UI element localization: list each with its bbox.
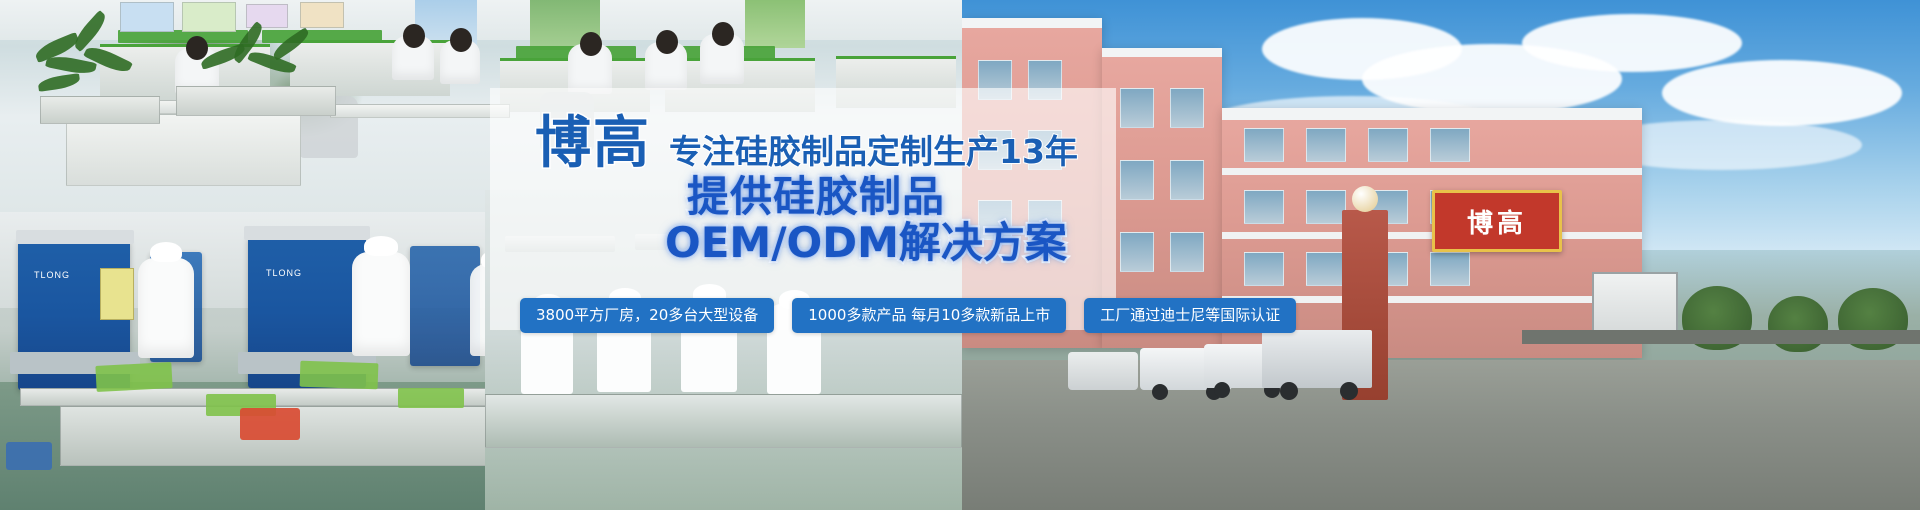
gate-lamp [1352,186,1378,212]
control-panel [100,268,134,320]
notice-board [1592,272,1678,336]
signboard-text: 博高 [1467,203,1527,240]
banner-content: 博高 专注硅胶制品定制生产13年 提供硅胶制品 OEM/ODM解决方案 3800… [490,88,1116,418]
brand-logo-text: 博高 [535,116,651,172]
promotional-banner: TLONG TLONG [0,0,1920,510]
factory-worker [138,258,194,358]
building-signboard: 博高 [1432,190,1562,252]
headline-row: 博高 专注硅胶制品定制生产13年 [535,116,1078,172]
brand-tagline: 专注硅胶制品定制生产13年 [669,135,1078,172]
feature-badge: 3800平方厂房，20多台大型设备 [520,298,774,333]
factory-worker [352,252,410,356]
headline-line-1: 提供硅胶制品 [687,176,945,218]
feature-badge: 工厂通过迪士尼等国际认证 [1084,298,1296,333]
feature-badge: 1000多款产品 每月10多款新品上市 [792,298,1066,333]
parked-truck [1262,330,1372,388]
office-window [745,0,805,48]
headline-line-2: OEM/ODM解决方案 [665,222,1067,264]
feature-badges: 3800平方厂房，20多台大型设备 1000多款产品 每月10多款新品上市 工厂… [520,298,1296,333]
kerb [1522,330,1920,344]
office-plant [196,30,326,90]
office-plant [28,10,148,102]
